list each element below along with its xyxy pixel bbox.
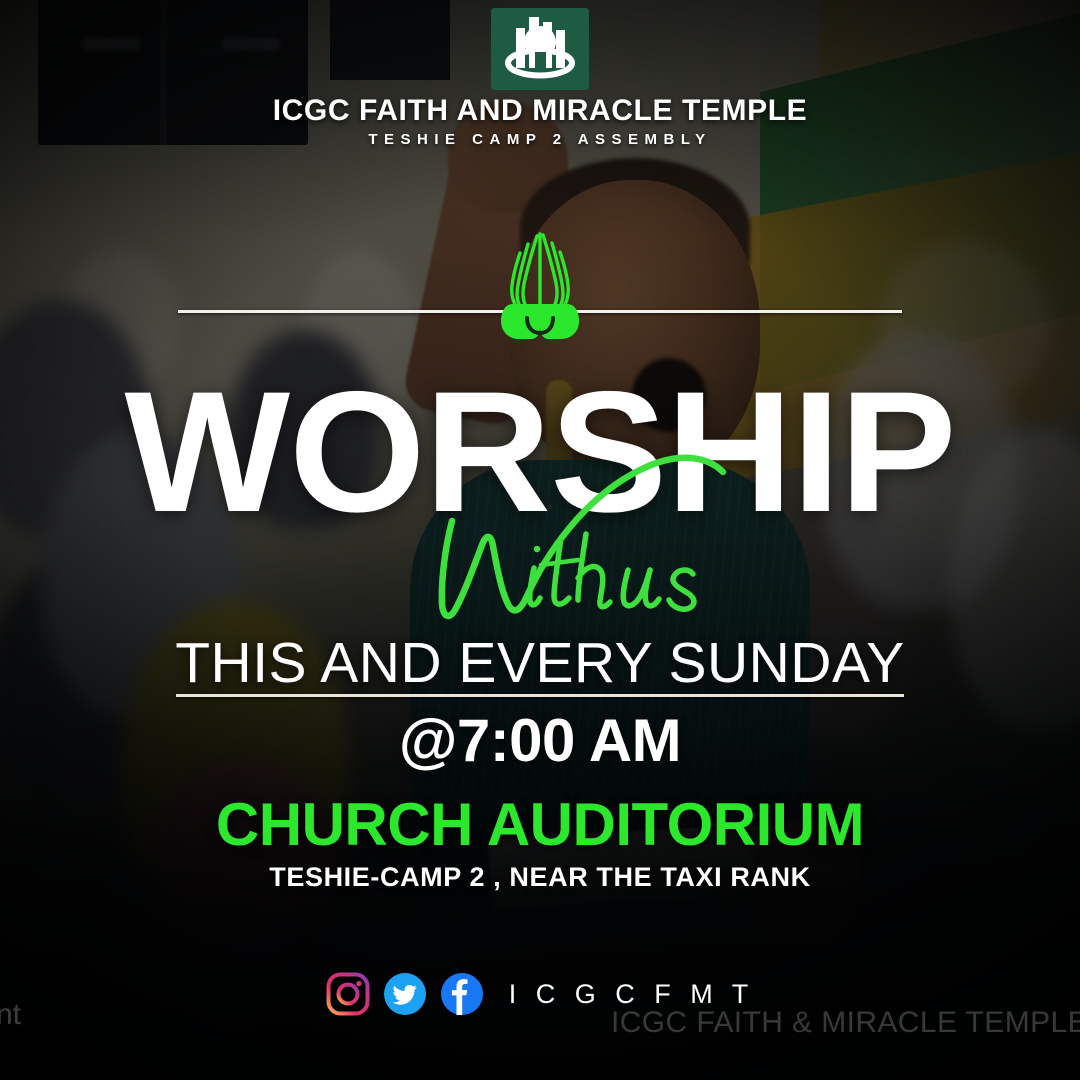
service-day: THIS AND EVERY SUNDAY — [0, 630, 1080, 696]
divider-line-right — [572, 310, 902, 313]
headline-worship: WORSHIP — [0, 366, 1080, 538]
watermark-left: nt — [0, 998, 21, 1032]
service-time: @7:00 AM — [0, 706, 1080, 775]
assembly-subtitle: TESHIE CAMP 2 ASSEMBLY — [0, 131, 1080, 148]
venue-address: TESHIE-CAMP 2 , NEAR THE TAXI RANK — [0, 862, 1080, 893]
divider-line-left — [178, 310, 508, 313]
service-day-underline — [176, 694, 904, 697]
praying-hands-icon — [487, 226, 593, 346]
social-handle: I C G C F M T — [509, 979, 755, 1010]
facebook-icon[interactable] — [440, 972, 484, 1016]
church-logo — [491, 8, 589, 90]
twitter-icon[interactable] — [383, 972, 427, 1016]
divider — [0, 288, 1080, 340]
watermark-right: ICGC FAITH & MIRACLE TEMPLE — [611, 1006, 1080, 1040]
page-title: ICGC FAITH AND MIRACLE TEMPLE — [0, 94, 1080, 128]
icgc-logo-icon — [491, 8, 589, 90]
logo-badge — [491, 8, 589, 90]
venue-name: CHURCH AUDITORIUM — [0, 790, 1080, 859]
worship-flyer: ICGC FAITH AND MIRACLE TEMPLE TESHIE CAM… — [0, 0, 1080, 1080]
instagram-icon[interactable] — [326, 972, 370, 1016]
flyer-content: ICGC FAITH AND MIRACLE TEMPLE TESHIE CAM… — [0, 0, 1080, 1080]
